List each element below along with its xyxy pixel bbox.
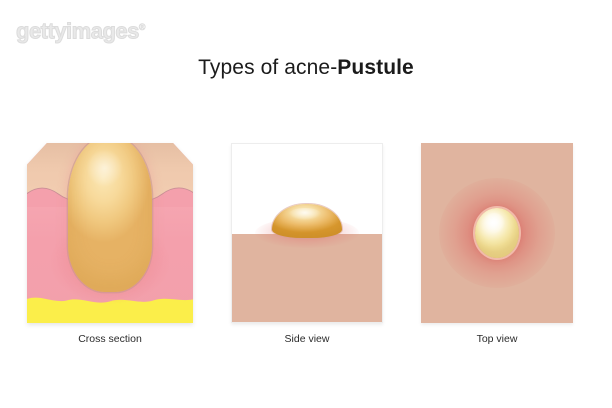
page-title: Types of acne-Pustule	[0, 56, 612, 80]
title-highlight: Pustule	[337, 56, 414, 79]
panel-caption: Top view	[421, 333, 573, 345]
panel-side-view: Side view	[231, 143, 383, 323]
panel-caption: Cross section	[27, 333, 193, 345]
top-view-figure	[421, 143, 573, 323]
side-view-figure	[231, 143, 383, 323]
pustule-highlight	[86, 149, 123, 186]
skin-block	[27, 143, 193, 323]
cross-section-figure	[27, 143, 193, 323]
pustule-highlight	[289, 208, 321, 220]
title-prefix: Types of acne-	[198, 56, 337, 79]
panel-caption: Side view	[231, 333, 383, 345]
pustule-lesion	[68, 143, 152, 292]
panel-top-view: Top view	[421, 143, 573, 323]
pustule-head	[475, 208, 519, 258]
panel-cross-section: Cross section	[27, 143, 193, 323]
pustule-lesion	[272, 204, 342, 238]
watermark-text: gettyimages	[16, 18, 139, 43]
illustration-panels: Cross section Side view Top view	[0, 143, 612, 353]
pustule-highlight	[484, 213, 505, 233]
getty-images-watermark: gettyimages®	[16, 14, 166, 40]
watermark-registered-mark: ®	[139, 22, 145, 32]
